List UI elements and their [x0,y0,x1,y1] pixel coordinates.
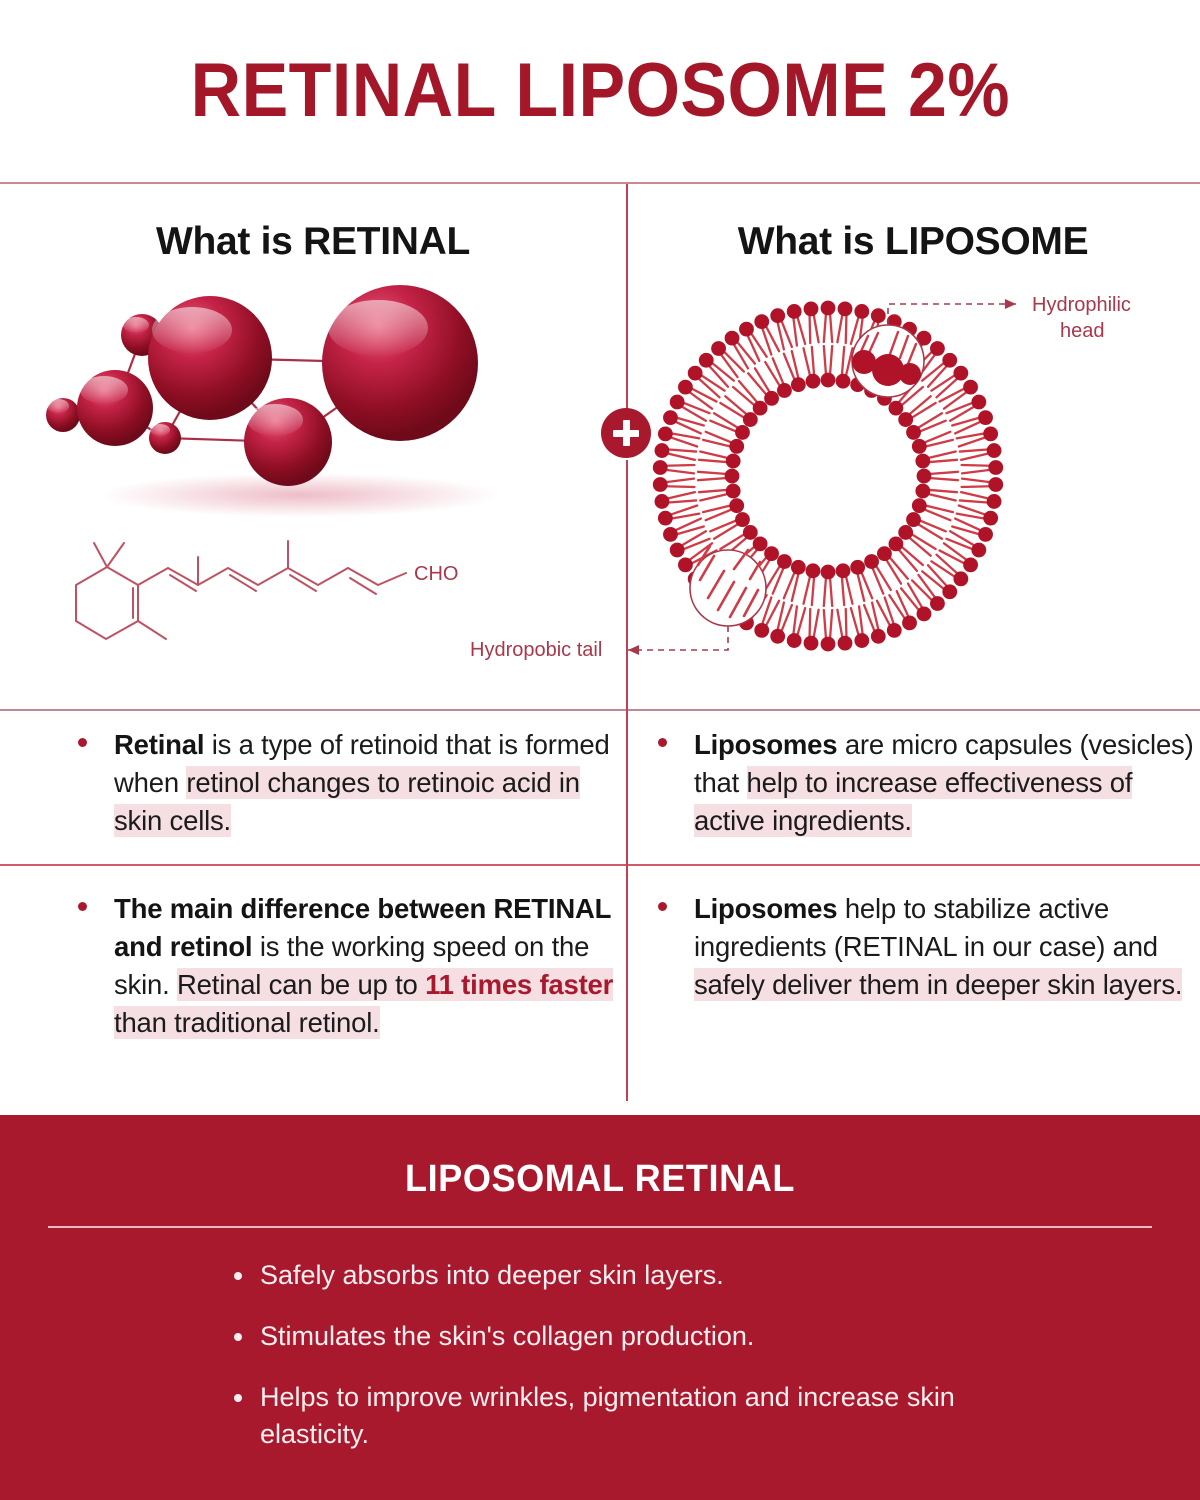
lipid-head [743,412,758,427]
lipid-head [735,425,750,440]
molecule-atom-large [148,296,272,420]
lipid-head [930,596,945,611]
lipid-head [678,380,693,395]
lipid-head [912,498,927,513]
lipid-head [887,623,902,638]
lipid-head [915,484,930,499]
lipid-head [725,331,740,346]
bullet-highlight: safely deliver them in deeper skin layer… [694,968,1182,1001]
lipid-head [978,410,993,425]
lipid-head [663,527,678,542]
lipid-head [902,615,917,630]
lipid-head [711,341,726,356]
bullet-text: Liposomes are micro capsules (vesicles) … [694,726,1200,840]
lipid-head [983,511,998,526]
plus-icon-vertical-bar [623,420,630,446]
bullet-highlight-emphasis: 11 times faster [425,968,613,1001]
lipid-head [987,494,1002,509]
page-title: RETINAL LIPOSOME 2% [190,53,1009,129]
label-hydrophilic-head-line1: Hydrophilic [1032,294,1131,316]
retinal-structural-formula [76,541,406,639]
divider-middle-2 [0,864,1200,866]
bullet-bold-lead: Liposomes [694,729,837,760]
lipid-head [787,633,802,648]
label-hydrophilic-head-line2: head [1060,320,1105,342]
lipid-head [764,391,779,406]
bullet-bold-lead: Retinal [114,729,204,760]
lipid-head [658,426,673,441]
lipid-head [777,554,792,569]
lipid-head [764,546,779,561]
lipid-head [753,401,768,416]
bullet-retinal-vs-retinol: The main difference between RETINAL and … [78,890,618,1042]
lipid-head [871,308,886,323]
bullet-text: Retinal is a type of retinoid that is fo… [114,726,610,840]
lipid-head [978,527,993,542]
lipid-head [753,536,768,551]
lipid-head [726,454,741,469]
lipid-head [821,637,836,652]
lipid-head [987,443,1002,458]
lipid-head [729,498,744,513]
heading-what-is-retinal: What is RETINAL [0,214,626,270]
lipid-head [663,410,678,425]
footer-benefit-list: Safely absorbs into deeper skin layers.S… [230,1257,1200,1453]
molecule-atom-medium [77,370,153,446]
bullet-highlight-b: than traditional retinol. [114,1006,380,1039]
bullet-bold-lead: Liposomes [694,893,837,924]
lipid-head [953,571,968,586]
lipid-head [898,412,913,427]
formula-cho-label: CHO [414,563,458,585]
lipid-head [917,606,932,621]
molecule-atom-small [46,398,80,432]
lipid-head [754,623,769,638]
liposome-illustration: Hydrophilic head [640,288,1200,688]
lipid-head [983,426,998,441]
divider-vertical-lower [626,460,628,1101]
lipid-head [877,546,892,561]
lipid-head [906,512,921,527]
lipid-head [871,629,886,644]
footer-list-item: Safely absorbs into deeper skin layers. [230,1257,1060,1294]
label-hydrophobic-tail: Hydropobic tail [470,639,602,661]
lipid-head [971,543,986,558]
lipid-head [912,439,927,454]
bullet-highlight: help to increase effectiveness of active… [694,766,1132,837]
lipid-head [971,395,986,410]
lipid-head [906,425,921,440]
leader-hydrophilic-head [888,299,1016,325]
lipid-head [653,460,668,475]
lipid-head [836,374,851,389]
lipid-head [942,584,957,599]
footer-panel: LIPOSOMAL RETINAL Safely absorbs into de… [0,1115,1200,1500]
lipid-head [655,443,670,458]
lipid-head [777,383,792,398]
molecule-atom-xlarge [322,285,478,441]
lipid-head [836,563,851,578]
lipid-head [953,366,968,381]
title-bar: RETINAL LIPOSOME 2% [0,0,1200,182]
lipid-head [888,536,903,551]
lipid-head [838,301,853,316]
lipid-head [770,308,785,323]
lipid-head [729,439,744,454]
lipid-head [806,563,821,578]
footer-heading: LIPOSOMAL RETINAL [30,1158,1170,1201]
lipid-head [930,341,945,356]
lipid-head [854,633,869,648]
lipid-head [821,565,836,580]
lipid-head [739,322,754,337]
bullet-dot-icon [658,902,667,911]
lipid-head [688,366,703,381]
lipid-head [821,301,836,316]
lipid-head [804,636,819,651]
magnifier-hydrophilic-head [852,325,924,397]
lipid-head [898,525,913,540]
lipid-head [963,557,978,572]
lipid-head [726,484,741,499]
bullet-liposome-stabilize: Liposomes help to stabilize active ingre… [658,890,1200,1004]
lipid-head [864,554,879,569]
lipid-head [791,377,806,392]
bullet-text: Liposomes help to stabilize active ingre… [694,890,1200,1004]
lipid-head [988,477,1003,492]
heading-what-is-liposome: What is LIPOSOME [626,214,1200,270]
lipid-head [770,629,785,644]
lipid-head [743,525,758,540]
lipid-head [915,454,930,469]
molecule-atom-medium [244,398,332,486]
lipid-head [699,353,714,368]
bullet-highlight-a: Retinal can be up to [177,968,425,1001]
lipid-head [653,477,668,492]
lipid-head [670,395,685,410]
footer-divider [48,1226,1152,1228]
lipid-head [787,304,802,319]
lipid-head [735,512,750,527]
lipid-head [963,380,978,395]
lipid-head [754,314,769,329]
lipid-head [850,560,865,575]
bullet-retinal-definition: Retinal is a type of retinoid that is fo… [78,726,610,840]
molecule-atom-small [149,422,181,454]
lipid-head [678,557,693,572]
divider-top [0,182,1200,184]
lipid-head [725,469,740,484]
lipid-head [888,401,903,416]
divider-middle-1 [0,709,1200,711]
lipid-head [791,560,806,575]
retinal-molecule-svg: CHO [20,290,620,690]
lipid-head [804,301,819,316]
footer-list-item: Helps to improve wrinkles, pigmentation … [230,1379,1060,1453]
lipid-head [821,373,836,388]
lipid-head [917,469,932,484]
magnifier-hydrophobic-tail [690,546,766,626]
lipid-head [655,494,670,509]
lipid-head [806,374,821,389]
footer-list-item: Stimulates the skin's collagen productio… [230,1318,1060,1355]
lipid-head [942,353,957,368]
lipid-head [838,636,853,651]
leader-hydrophobic-tail [628,626,728,655]
bullet-dot-icon [658,738,667,747]
bullet-text: The main difference between RETINAL and … [114,890,618,1042]
infographic-page: RETINAL LIPOSOME 2% What is RETINAL What… [0,0,1200,1500]
bullet-dot-icon [78,738,87,747]
lipid-head [854,304,869,319]
lipid-head [658,511,673,526]
liposome-svg: Hydrophilic head [640,288,1200,688]
bullet-dot-icon [78,902,87,911]
bullet-liposome-definition: Liposomes are micro capsules (vesicles) … [658,726,1200,840]
lipid-head [670,543,685,558]
retinal-illustration: CHO [20,290,620,690]
lipid-head [988,460,1003,475]
